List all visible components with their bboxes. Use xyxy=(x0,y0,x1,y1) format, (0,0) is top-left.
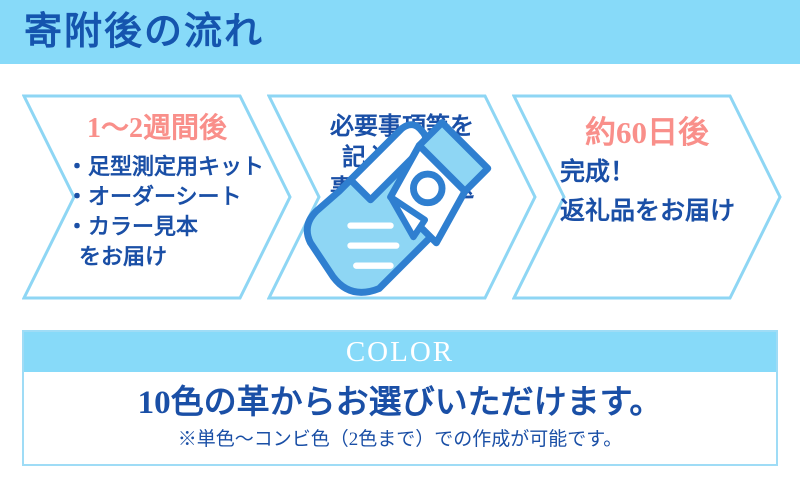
flow-step-3-line-1: 完成！ xyxy=(512,156,782,189)
flow-step-3: 約60日後 完成！ 返礼品をお届け xyxy=(512,94,782,300)
flow-step-2: 必要事項等を 記入の上、 事業者へ返送 xyxy=(267,94,537,300)
flow-step-1-content: 1〜2週間後 ・足型測定用キット ・オーダーシート ・カラー見本 をお届け xyxy=(22,94,292,300)
flow-step-2-content: 必要事項等を 記入の上、 事業者へ返送 xyxy=(267,94,537,300)
color-section-note-text: ※単色〜コンビ色（2色まで）での作成が可能です。 xyxy=(24,426,776,454)
flow-step-3-content: 約60日後 完成！ 返礼品をお届け xyxy=(512,94,782,300)
flow-step-1-line-2: ・オーダーシート xyxy=(66,182,292,212)
hand-writing-pen-icon xyxy=(267,94,537,300)
flow-step-3-line-2: 返礼品をお届け xyxy=(512,195,782,228)
color-section-title: COLOR xyxy=(346,336,454,368)
color-section-header-bar: COLOR xyxy=(24,332,776,372)
page-header-band: 寄附後の流れ xyxy=(0,0,800,64)
color-section-body: 10色の革からお選びいただけます。 ※単色〜コンビ色（2色まで）での作成が可能で… xyxy=(24,372,776,454)
flow-step-1-line-1: ・足型測定用キット xyxy=(66,152,292,182)
flow-step-1-line-4: をお届け xyxy=(66,242,292,272)
flow-step-3-heading: 約60日後 xyxy=(512,116,782,150)
color-section-panel: COLOR 10色の革からお選びいただけます。 ※単色〜コンビ色（2色まで）での… xyxy=(22,330,778,466)
flow-step-1-line-3: ・カラー見本 xyxy=(66,212,292,242)
flow-step-1-heading: 1〜2週間後 xyxy=(22,112,292,146)
color-section-main-text: 10色の革からお選びいただけます。 xyxy=(24,382,776,424)
flow-steps-row: 1〜2週間後 ・足型測定用キット ・オーダーシート ・カラー見本 をお届け 必要… xyxy=(0,88,800,313)
page-title: 寄附後の流れ xyxy=(24,8,264,56)
flow-step-1: 1〜2週間後 ・足型測定用キット ・オーダーシート ・カラー見本 をお届け xyxy=(22,94,292,300)
flow-step-1-list: ・足型測定用キット ・オーダーシート ・カラー見本 をお届け xyxy=(22,152,292,272)
